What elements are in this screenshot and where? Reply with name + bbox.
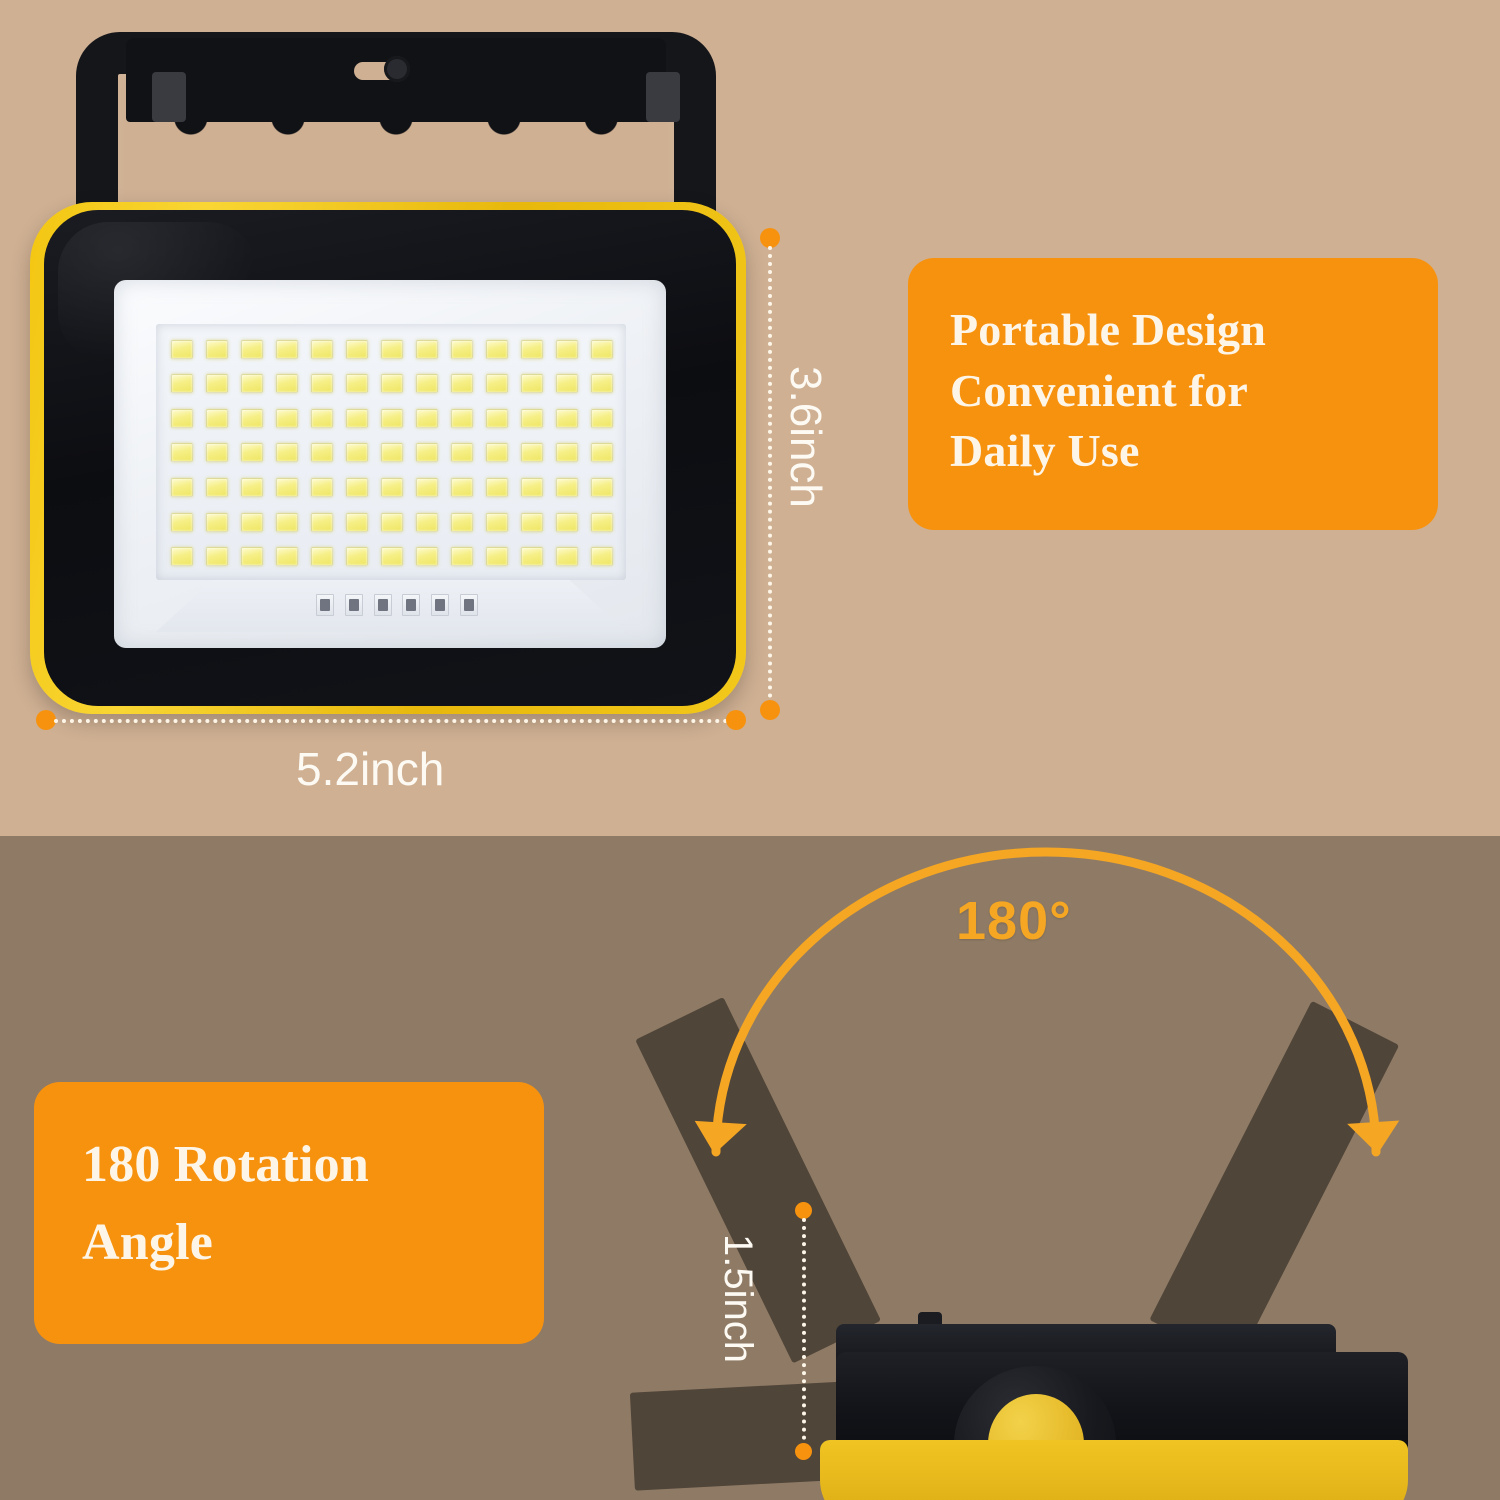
led-chip [556, 409, 578, 428]
led-chip [241, 443, 263, 462]
led-chip [206, 409, 228, 428]
led-chip [346, 443, 368, 462]
led-chip [451, 340, 473, 359]
led-chip [556, 443, 578, 462]
led-chip [416, 478, 438, 497]
callout-line-1: Portable Design [950, 300, 1398, 361]
led-chip [346, 513, 368, 532]
led-chip [451, 409, 473, 428]
led-chip [311, 409, 333, 428]
led-chip [591, 409, 613, 428]
led-chip [591, 340, 613, 359]
led-chip [521, 513, 543, 532]
led-chip [451, 547, 473, 566]
led-chip [486, 340, 508, 359]
led-chip [556, 513, 578, 532]
led-chip [206, 374, 228, 393]
width-dim-line [54, 719, 744, 723]
led-chip [311, 547, 333, 566]
top-panel: 3.6inch 5.2inch Portable Design Convenie… [0, 0, 1500, 836]
height-dim-dot-top [760, 228, 780, 248]
led-chip [451, 478, 473, 497]
depth-dim-label: 1.5inch [715, 1234, 760, 1363]
led-chip [521, 547, 543, 566]
led-chip [276, 374, 298, 393]
width-dim-label: 5.2inch [296, 742, 444, 796]
rotation-callout-line-2: Angle [82, 1204, 504, 1282]
keyhole-round-icon [384, 56, 410, 82]
led-chip [381, 547, 403, 566]
led-chip [416, 443, 438, 462]
led-chip [311, 374, 333, 393]
height-dim-label: 3.6inch [780, 366, 830, 508]
led-chip [521, 443, 543, 462]
led-chip [241, 513, 263, 532]
smd-component [431, 594, 449, 616]
led-chip [416, 340, 438, 359]
led-chip [381, 409, 403, 428]
portable-design-callout: Portable Design Convenient for Daily Use [908, 258, 1438, 530]
led-chip [381, 443, 403, 462]
led-chip [276, 513, 298, 532]
led-chip [521, 409, 543, 428]
depth-dim-line [802, 1218, 806, 1448]
led-chip [416, 409, 438, 428]
callout-line-3: Daily Use [950, 421, 1398, 482]
led-chip [486, 443, 508, 462]
led-chip [416, 513, 438, 532]
led-chip [486, 513, 508, 532]
led-chip [521, 478, 543, 497]
led-chip [521, 374, 543, 393]
led-chip [171, 409, 193, 428]
led-chip [241, 478, 263, 497]
led-chip [591, 547, 613, 566]
led-chip [486, 409, 508, 428]
led-chip [276, 547, 298, 566]
led-chip [311, 340, 333, 359]
smd-component [316, 594, 334, 616]
led-chip [241, 374, 263, 393]
callout-line-2: Convenient for [950, 361, 1398, 422]
led-chip [346, 340, 368, 359]
led-chip [486, 374, 508, 393]
led-chip [276, 409, 298, 428]
led-chip [171, 340, 193, 359]
led-chip [451, 443, 473, 462]
depth-dim-dot-bottom [795, 1443, 812, 1460]
depth-dim-dot-top [795, 1202, 812, 1219]
led-chip [206, 340, 228, 359]
led-chip [556, 374, 578, 393]
width-dim-dot-left [36, 710, 56, 730]
led-chip [206, 443, 228, 462]
led-chip [171, 513, 193, 532]
led-chip [381, 478, 403, 497]
smd-component [402, 594, 420, 616]
led-chip [521, 340, 543, 359]
led-chip [276, 478, 298, 497]
width-dim-dot-right [726, 710, 746, 730]
led-chip [206, 478, 228, 497]
led-chip [591, 513, 613, 532]
led-chip [346, 547, 368, 566]
led-chip [451, 374, 473, 393]
rotation-diagram: 180° [620, 862, 1500, 1500]
led-chip [171, 547, 193, 566]
led-chip [311, 443, 333, 462]
handle-hinge-left [152, 72, 186, 122]
led-chip [346, 374, 368, 393]
led-chip [346, 409, 368, 428]
arrowhead-right [1347, 1117, 1403, 1158]
smd-component [345, 594, 363, 616]
led-chip [206, 513, 228, 532]
led-chip [171, 374, 193, 393]
led-chip [591, 443, 613, 462]
smd-component [460, 594, 478, 616]
led-chip [381, 374, 403, 393]
led-chip [486, 547, 508, 566]
led-array [164, 332, 620, 574]
led-chip [171, 443, 193, 462]
work-light-front-view [18, 26, 758, 716]
led-chip [591, 478, 613, 497]
led-chip [416, 547, 438, 566]
led-chip [171, 478, 193, 497]
lamp-lens [114, 280, 666, 648]
height-dim-line [768, 246, 772, 706]
led-chip [276, 443, 298, 462]
led-chip [311, 478, 333, 497]
smd-component-row [316, 592, 478, 618]
led-chip [381, 340, 403, 359]
side-view-yellow-base [820, 1440, 1408, 1500]
handle-hinge-right [646, 72, 680, 122]
led-chip [556, 340, 578, 359]
led-chip [451, 513, 473, 532]
led-chip [311, 513, 333, 532]
led-chip [241, 409, 263, 428]
led-chip [276, 340, 298, 359]
infographic-page: 3.6inch 5.2inch Portable Design Convenie… [0, 0, 1500, 1500]
led-chip [381, 513, 403, 532]
led-chip [591, 374, 613, 393]
led-chip [486, 478, 508, 497]
rotation-angle-label: 180° [956, 890, 1072, 952]
rotation-callout-line-1: 180 Rotation [82, 1126, 504, 1204]
led-chip [416, 374, 438, 393]
led-chip [241, 547, 263, 566]
led-chip [206, 547, 228, 566]
led-chip [556, 547, 578, 566]
led-chip [556, 478, 578, 497]
led-chip [241, 340, 263, 359]
rotation-angle-callout: 180 Rotation Angle [34, 1082, 544, 1344]
height-dim-dot-bottom [760, 700, 780, 720]
smd-component [374, 594, 392, 616]
led-chip [346, 478, 368, 497]
